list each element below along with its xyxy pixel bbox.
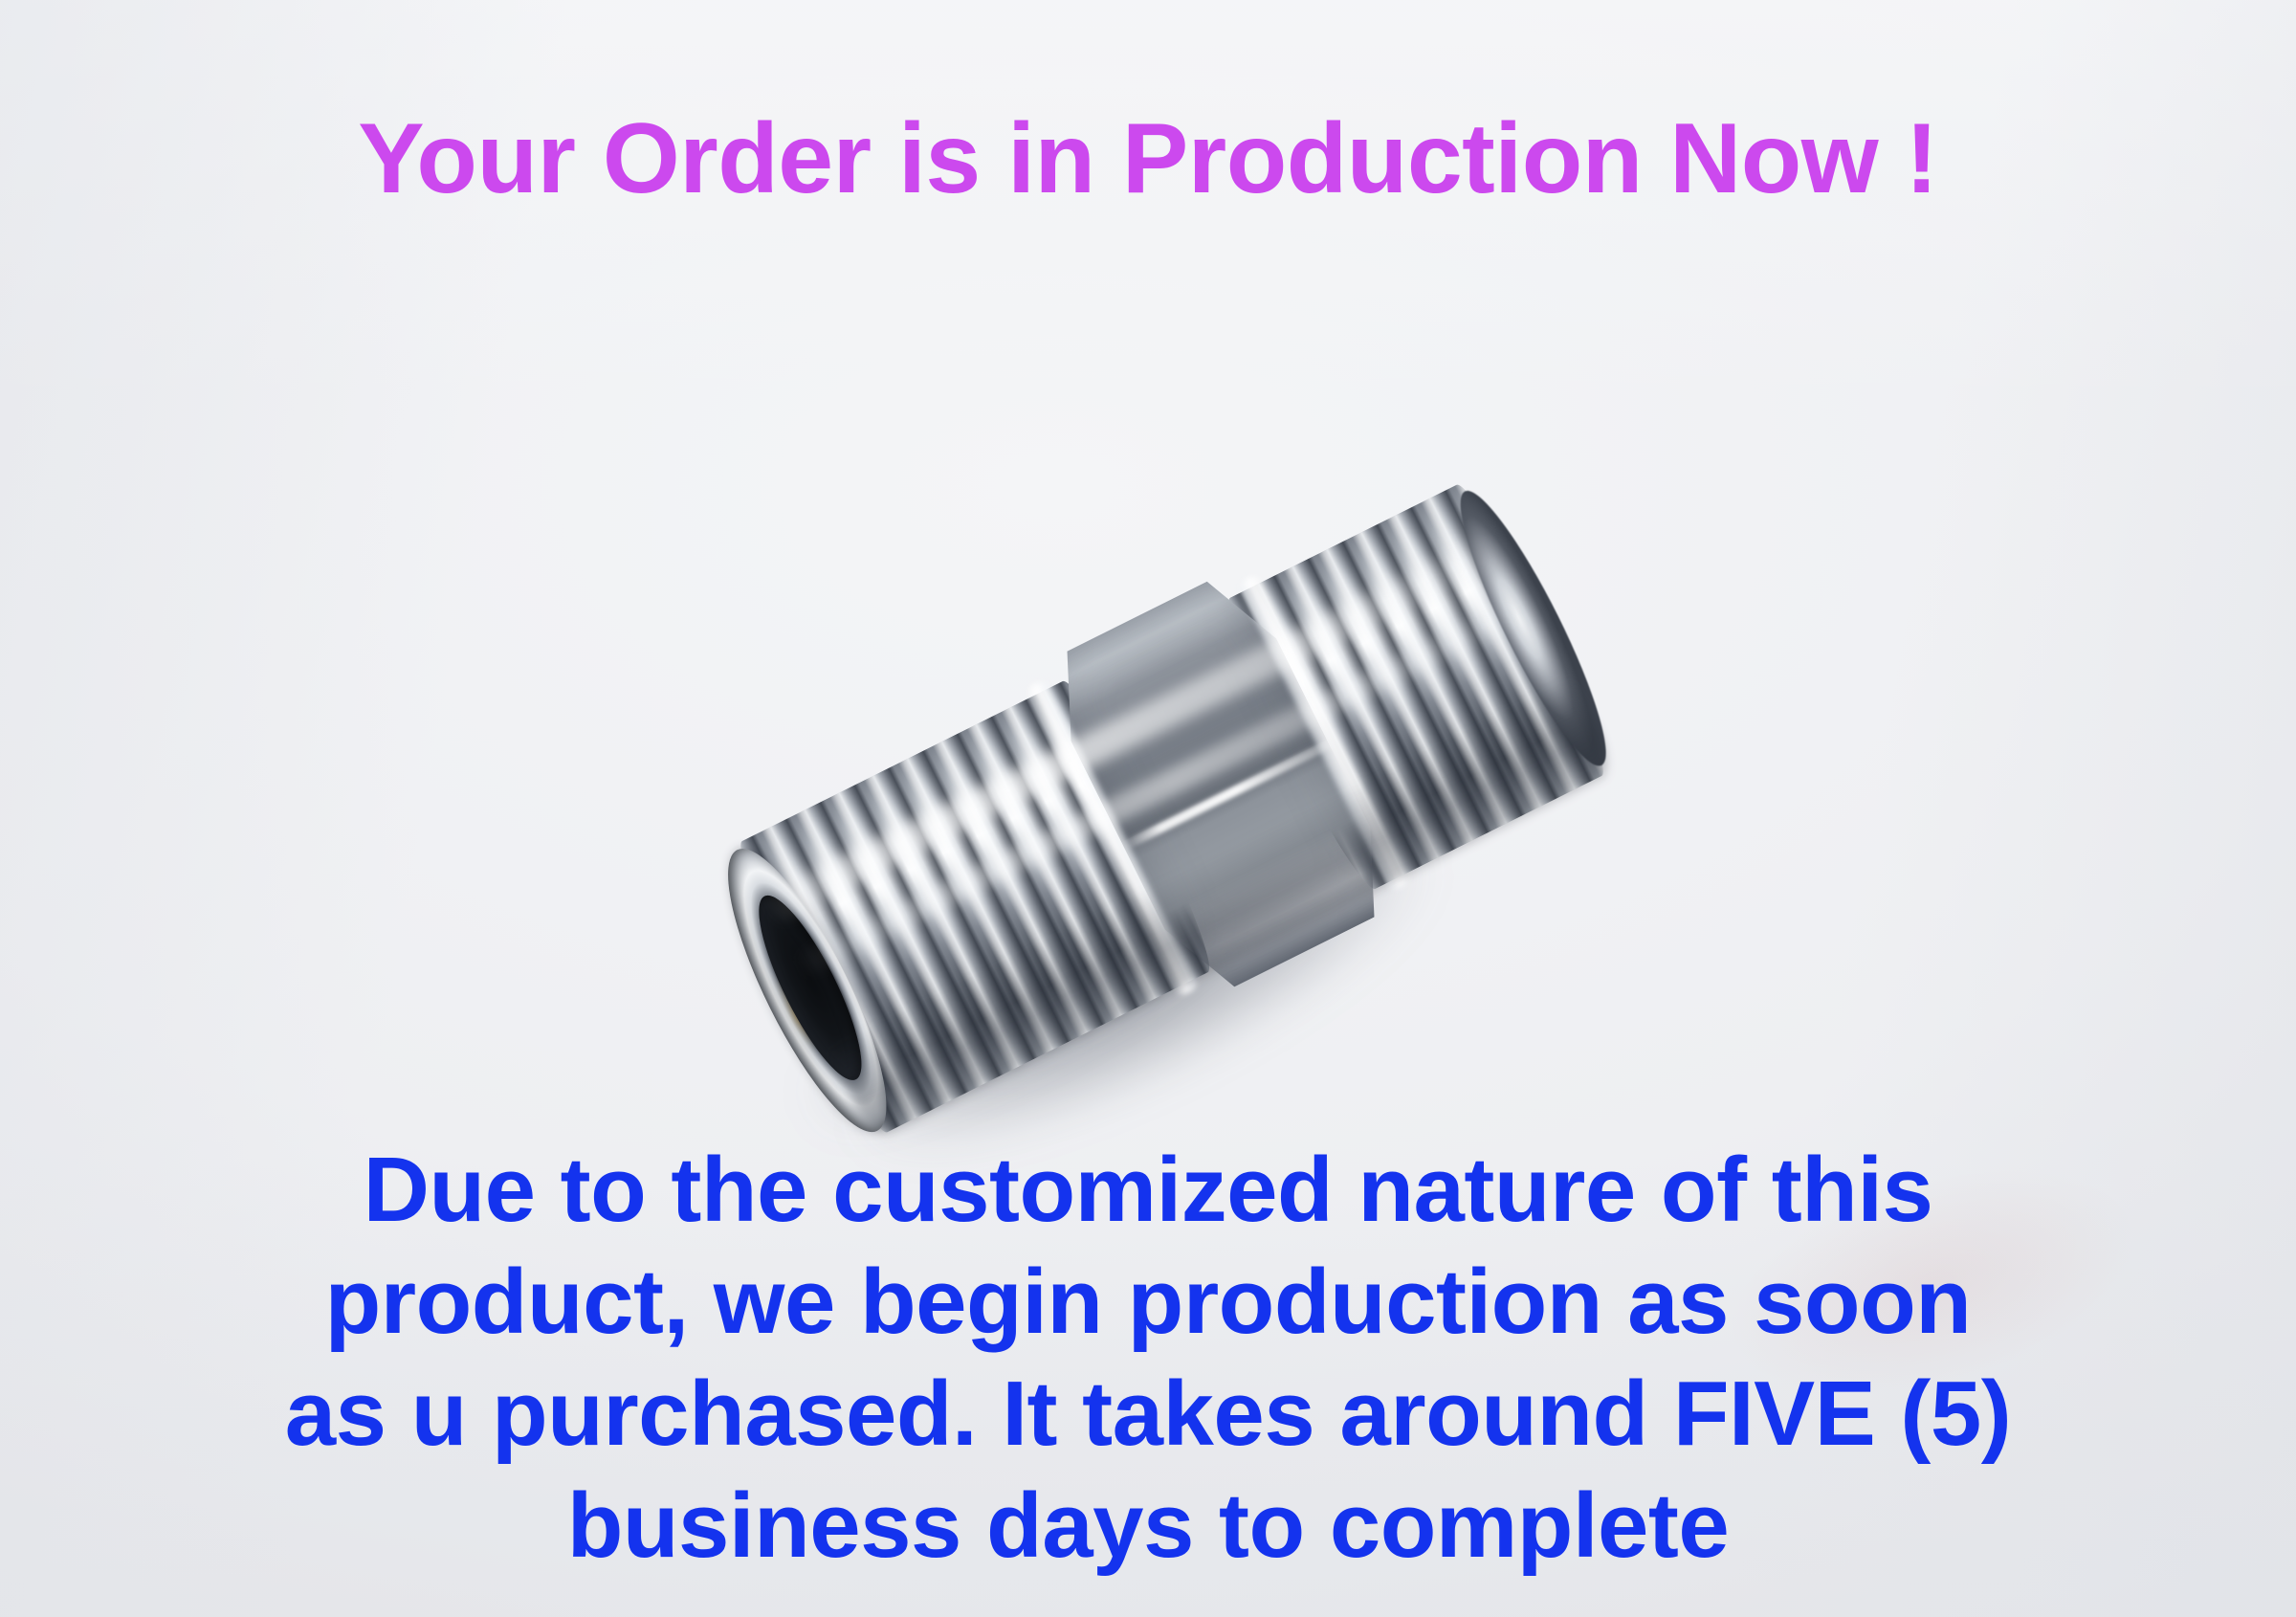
notice-line-1: Due to the customized nature of this [0, 1134, 2296, 1246]
promo-banner-page: Your Order is in Production Now ! Due to… [0, 0, 2296, 1617]
notice-line-3: as u purchased. It takes around FIVE (5) [0, 1358, 2296, 1470]
production-notice: Due to the customized nature of this pro… [0, 1134, 2296, 1582]
product-image [703, 478, 1660, 1215]
notice-line-2: product, we begin production as soon [0, 1246, 2296, 1358]
page-title: Your Order is in Production Now ! [0, 107, 2296, 211]
notice-line-4: business days to complete [0, 1470, 2296, 1582]
